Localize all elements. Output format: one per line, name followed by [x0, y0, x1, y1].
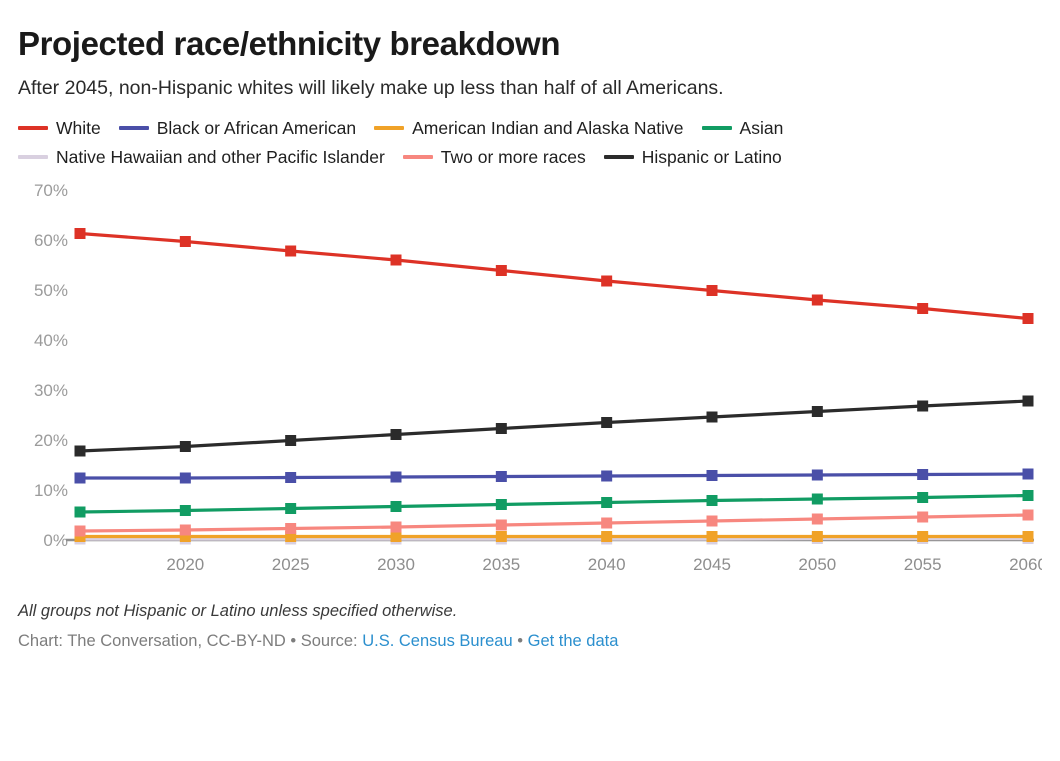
data-point-marker[interactable] [1023, 490, 1034, 501]
line-chart-svg: 0%10%20%30%40%50%60%70%20202025203020352… [18, 178, 1042, 588]
data-point-marker[interactable] [496, 423, 507, 434]
legend-swatch-icon [18, 155, 48, 159]
x-axis-tick-label: 2040 [588, 555, 626, 574]
legend-swatch-icon [374, 126, 404, 130]
series-white [75, 228, 1034, 324]
y-axis-tick-label: 50% [34, 281, 68, 300]
data-point-marker[interactable] [1023, 396, 1034, 407]
data-point-marker[interactable] [601, 518, 612, 529]
series-line [80, 496, 1028, 513]
data-point-marker[interactable] [285, 246, 296, 257]
get-the-data-link[interactable]: Get the data [528, 632, 619, 650]
data-point-marker[interactable] [285, 523, 296, 534]
data-point-marker[interactable] [1023, 531, 1034, 542]
chart-plot-area: 0%10%20%30%40%50%60%70%20202025203020352… [18, 178, 1042, 588]
credit-separator-1: • [290, 632, 296, 650]
x-axis-tick-label: 2035 [482, 555, 520, 574]
data-point-marker[interactable] [391, 472, 402, 483]
data-point-marker[interactable] [496, 499, 507, 510]
credit-source-label: Source: [301, 632, 358, 650]
x-axis-tick-label: 2045 [693, 555, 731, 574]
series-asian [75, 490, 1034, 518]
y-axis-tick-label: 30% [34, 381, 68, 400]
data-point-marker[interactable] [285, 472, 296, 483]
y-axis-tick-label: 10% [34, 481, 68, 500]
legend-row: Native Hawaiian and other Pacific Island… [18, 146, 1042, 168]
y-axis-tick-label: 0% [43, 531, 68, 550]
legend-item[interactable]: Hispanic or Latino [604, 149, 782, 167]
legend-item-label: Asian [740, 120, 784, 138]
data-point-marker[interactable] [917, 512, 928, 523]
data-point-marker[interactable] [812, 470, 823, 481]
legend-item[interactable]: Asian [702, 120, 784, 138]
series-line [80, 234, 1028, 319]
x-axis-tick-label: 2020 [166, 555, 204, 574]
data-point-marker[interactable] [707, 516, 718, 527]
legend-item[interactable]: American Indian and Alaska Native [374, 120, 683, 138]
data-point-marker[interactable] [601, 417, 612, 428]
data-point-marker[interactable] [917, 492, 928, 503]
data-point-marker[interactable] [180, 441, 191, 452]
legend-swatch-icon [403, 155, 433, 159]
chart-legend: WhiteBlack or African AmericanAmerican I… [18, 100, 1042, 168]
data-point-marker[interactable] [75, 473, 86, 484]
legend-item-label: Black or African American [157, 120, 356, 138]
data-point-marker[interactable] [180, 236, 191, 247]
series-black-or-african-american [75, 469, 1034, 484]
legend-row: WhiteBlack or African AmericanAmerican I… [18, 117, 1042, 139]
legend-item[interactable]: Native Hawaiian and other Pacific Island… [18, 149, 385, 167]
legend-item[interactable]: White [18, 120, 101, 138]
data-point-marker[interactable] [391, 501, 402, 512]
data-point-marker[interactable] [180, 473, 191, 484]
data-point-marker[interactable] [180, 505, 191, 516]
data-point-marker[interactable] [917, 469, 928, 480]
legend-swatch-icon [604, 155, 634, 159]
legend-item[interactable]: Black or African American [119, 120, 356, 138]
data-point-marker[interactable] [285, 503, 296, 514]
legend-item-label: American Indian and Alaska Native [412, 120, 683, 138]
chart-footnote: All groups not Hispanic or Latino unless… [18, 588, 1042, 622]
legend-item-label: Two or more races [441, 149, 586, 167]
data-point-marker[interactable] [496, 520, 507, 531]
data-point-marker[interactable] [812, 295, 823, 306]
y-axis-tick-label: 20% [34, 431, 68, 450]
legend-item-label: White [56, 120, 101, 138]
legend-swatch-icon [119, 126, 149, 130]
chart-subtitle: After 2045, non-Hispanic whites will lik… [18, 63, 1042, 100]
data-point-marker[interactable] [917, 531, 928, 542]
credit-chart-text: Chart: The Conversation, CC-BY-ND [18, 632, 286, 650]
data-point-marker[interactable] [812, 531, 823, 542]
y-axis-tick-label: 60% [34, 231, 68, 250]
source-link-census-bureau[interactable]: U.S. Census Bureau [362, 632, 512, 650]
legend-swatch-icon [18, 126, 48, 130]
data-point-marker[interactable] [601, 276, 612, 287]
data-point-marker[interactable] [391, 531, 402, 542]
y-axis-tick-label: 40% [34, 331, 68, 350]
data-point-marker[interactable] [707, 495, 718, 506]
chart-page: Projected race/ethnicity breakdown After… [0, 0, 1060, 761]
data-point-marker[interactable] [812, 494, 823, 505]
data-point-marker[interactable] [601, 471, 612, 482]
x-axis-tick-label: 2060 [1009, 555, 1042, 574]
series-two-or-more-races [75, 510, 1034, 537]
legend-item[interactable]: Two or more races [403, 149, 586, 167]
series-hispanic-or-latino [75, 396, 1034, 457]
data-point-marker[interactable] [285, 435, 296, 446]
data-point-marker[interactable] [1023, 313, 1034, 324]
x-axis-tick-label: 2050 [798, 555, 836, 574]
x-axis-tick-label: 2055 [904, 555, 942, 574]
legend-item-label: Hispanic or Latino [642, 149, 782, 167]
data-point-marker[interactable] [75, 526, 86, 537]
data-point-marker[interactable] [812, 514, 823, 525]
data-point-marker[interactable] [75, 507, 86, 518]
x-axis-tick-label: 2030 [377, 555, 415, 574]
series-line [80, 401, 1028, 451]
data-point-marker[interactable] [496, 265, 507, 276]
data-point-marker[interactable] [601, 497, 612, 508]
data-point-marker[interactable] [707, 412, 718, 423]
data-point-marker[interactable] [1023, 469, 1034, 480]
data-point-marker[interactable] [707, 285, 718, 296]
data-point-marker[interactable] [707, 470, 718, 481]
data-point-marker[interactable] [496, 531, 507, 542]
x-axis-tick-label: 2025 [272, 555, 310, 574]
data-point-marker[interactable] [812, 406, 823, 417]
series-line [80, 515, 1028, 531]
legend-item-label: Native Hawaiian and other Pacific Island… [56, 149, 385, 167]
data-point-marker[interactable] [601, 531, 612, 542]
credit-separator-2: • [517, 632, 523, 650]
data-point-marker[interactable] [75, 446, 86, 457]
series-native-hawaiian-and-other-pacific-islander [75, 533, 1034, 545]
data-point-marker[interactable] [180, 525, 191, 536]
page-title: Projected race/ethnicity breakdown [18, 0, 1042, 63]
y-axis-tick-label: 70% [34, 181, 68, 200]
data-point-marker[interactable] [391, 255, 402, 266]
data-point-marker[interactable] [1023, 510, 1034, 521]
series-line [80, 474, 1028, 478]
data-point-marker[interactable] [75, 228, 86, 239]
data-point-marker[interactable] [917, 401, 928, 412]
data-point-marker[interactable] [707, 531, 718, 542]
data-point-marker[interactable] [391, 522, 402, 533]
data-point-marker[interactable] [496, 471, 507, 482]
chart-credit: Chart: The Conversation, CC-BY-ND • Sour… [18, 622, 1042, 652]
legend-swatch-icon [702, 126, 732, 130]
data-point-marker[interactable] [917, 303, 928, 314]
series-line [80, 539, 1028, 540]
data-point-marker[interactable] [391, 429, 402, 440]
